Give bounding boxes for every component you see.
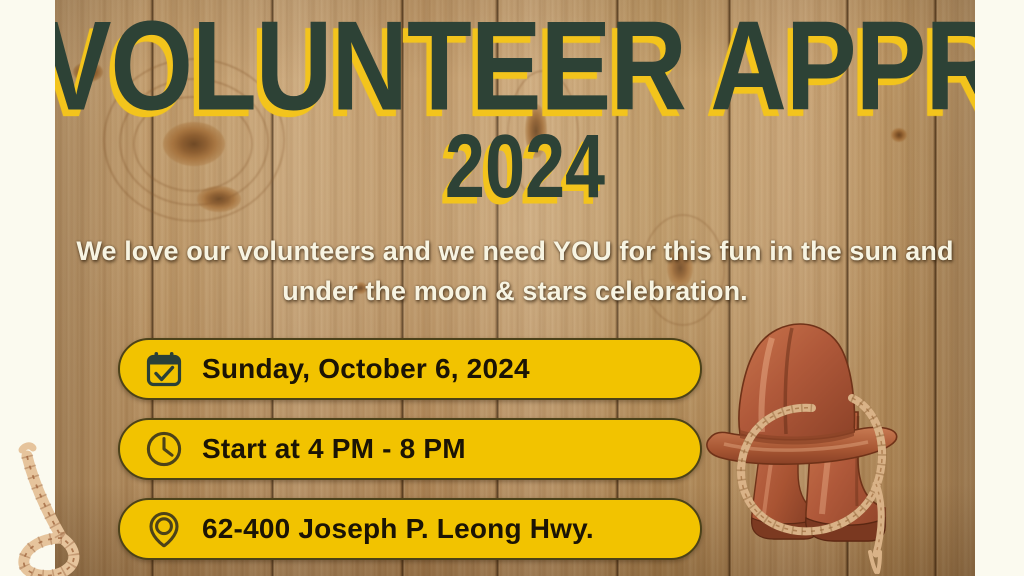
detail-pill-date-text: Sunday, October 6, 2024: [202, 353, 530, 385]
detail-pill-time-text: Start at 4 PM - 8 PM: [202, 433, 466, 465]
calendar-check-icon: [142, 347, 186, 391]
left-border-strip: [0, 0, 55, 576]
detail-pill-time[interactable]: Start at 4 PM - 8 PM: [118, 418, 702, 480]
right-border-strip: [975, 0, 1024, 576]
event-flyer: VOLUNTEER APPRECIATION 2024 We love our …: [0, 0, 1024, 576]
detail-pill-location-text: 62-400 Joseph P. Leong Hwy.: [202, 513, 594, 545]
clock-icon: [142, 427, 186, 471]
detail-pill-date[interactable]: Sunday, October 6, 2024: [118, 338, 702, 400]
location-pin-icon: [142, 507, 186, 551]
detail-pill-location[interactable]: 62-400 Joseph P. Leong Hwy.: [118, 498, 702, 560]
event-details-list: Sunday, October 6, 2024 Start at 4 PM - …: [118, 338, 702, 576]
